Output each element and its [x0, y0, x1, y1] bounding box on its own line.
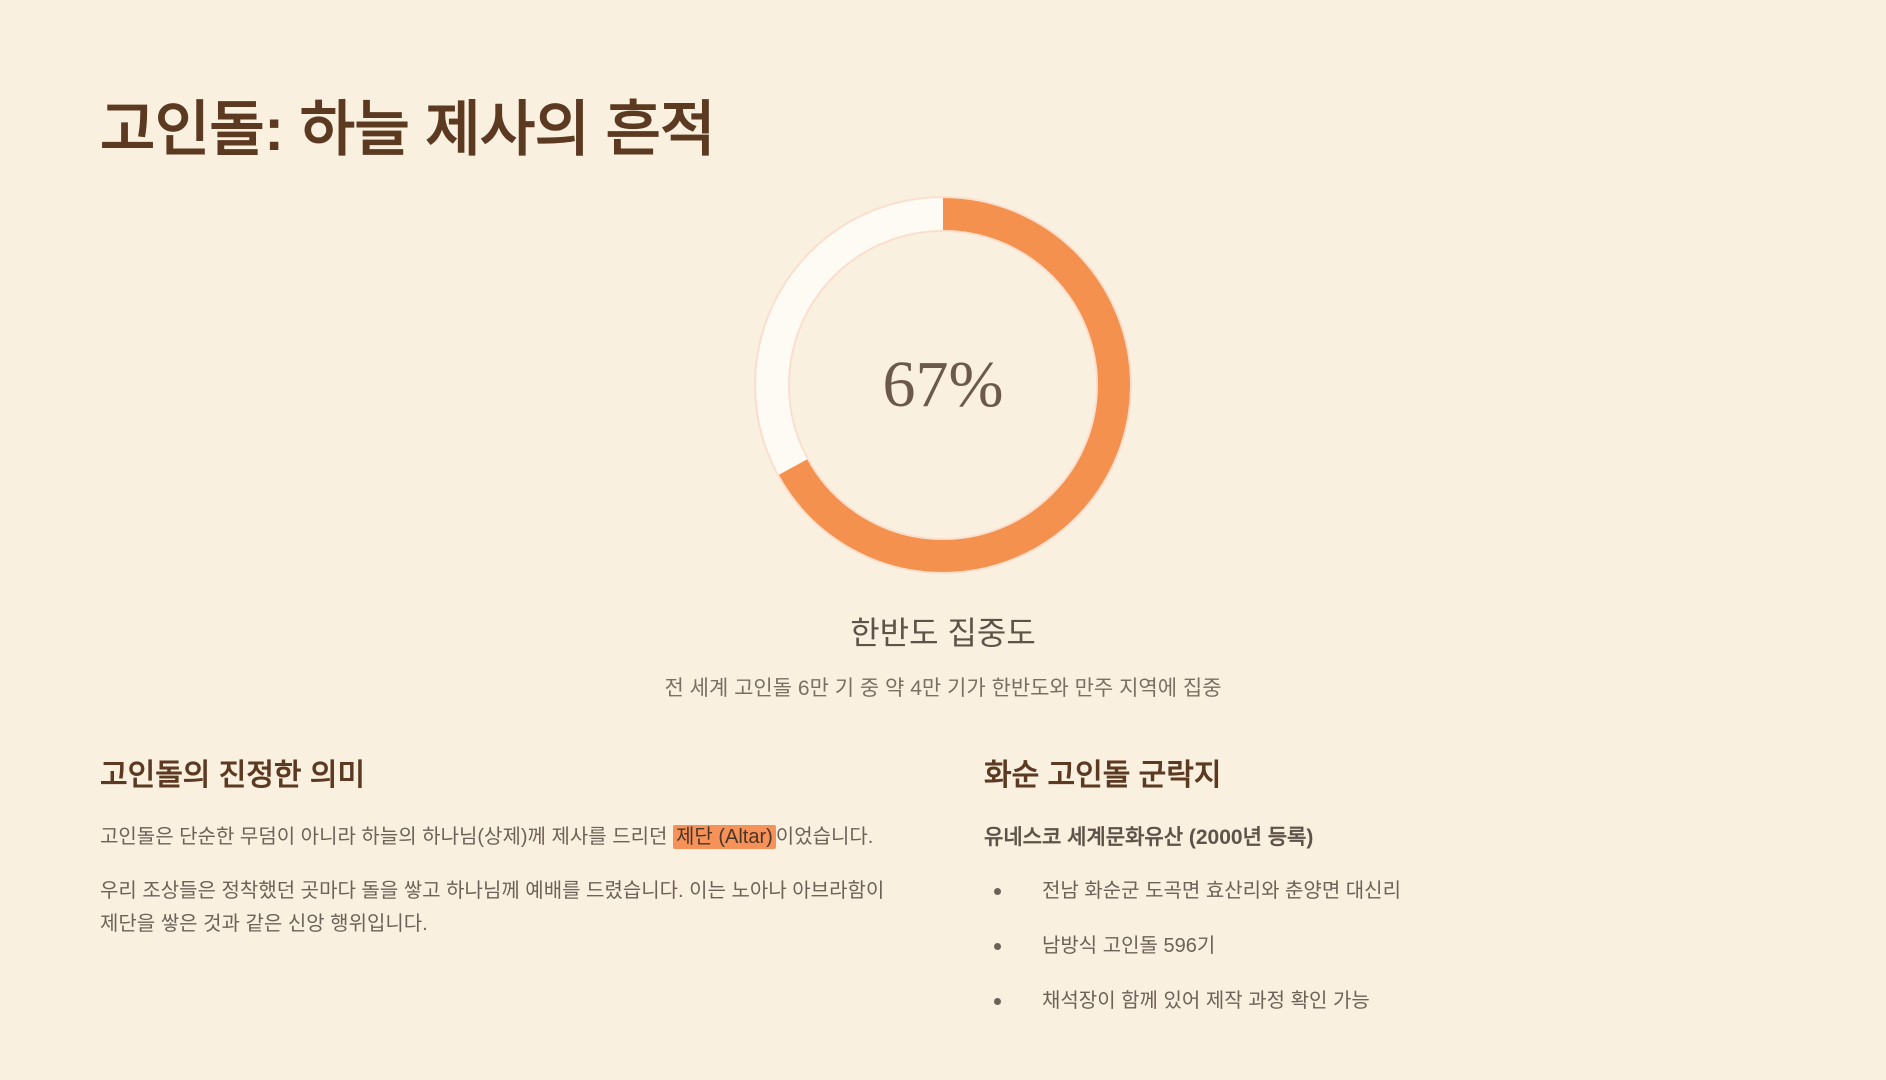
left-paragraph-2: 우리 조상들은 정착했던 곳마다 돌을 쌓고 하나님께 예배를 드렸습니다. 이… — [100, 875, 900, 940]
left-column: 고인돌의 진정한 의미 고인돌은 단순한 무덤이 아니라 하늘의 하나님(상제)… — [100, 756, 906, 1016]
donut-chart: 67% — [748, 190, 1138, 580]
chart-title: 한반도 집중도 — [850, 608, 1036, 654]
right-column: 화순 고인돌 군락지 유네스코 세계문화유산 (2000년 등록) 전남 화순군… — [984, 756, 1790, 1016]
left-paragraph-1: 고인돌은 단순한 무덤이 아니라 하늘의 하나님(상제)께 제사를 드리던 제단… — [100, 821, 900, 853]
page-title: 고인돌: 하늘 제사의 흔적 — [100, 92, 715, 167]
list-item: 채석장이 함께 있어 제작 과정 확인 가능 — [984, 987, 1790, 1016]
facts-list: 전남 화순군 도곡면 효산리와 춘양면 대신리 남방식 고인돌 596기 채석장… — [984, 877, 1790, 1016]
list-item: 남방식 고인돌 596기 — [984, 932, 1790, 961]
unesco-subheading: 유네스코 세계문화유산 (2000년 등록) — [984, 821, 1790, 851]
altar-highlight: 제단 (Altar) — [673, 825, 776, 849]
left-column-heading: 고인돌의 진정한 의미 — [100, 756, 906, 795]
slide-root: 고인돌: 하늘 제사의 흔적 67% 한반도 집중도 전 세계 고인돌 6만 기… — [0, 0, 1886, 1080]
left-paragraph-1-after: 이었습니다. — [776, 826, 874, 848]
donut-center-label: 67% — [748, 190, 1138, 580]
list-item: 전남 화순군 도곡면 효산리와 춘양면 대신리 — [984, 877, 1790, 906]
chart-subtitle: 전 세계 고인돌 6만 기 중 약 4만 기가 한반도와 만주 지역에 집중 — [664, 672, 1221, 702]
left-paragraph-1-before: 고인돌은 단순한 무덤이 아니라 하늘의 하나님(상제)께 제사를 드리던 — [100, 826, 673, 848]
right-column-heading: 화순 고인돌 군락지 — [984, 756, 1790, 795]
content-columns: 고인돌의 진정한 의미 고인돌은 단순한 무덤이 아니라 하늘의 하나님(상제)… — [100, 756, 1790, 1016]
donut-chart-block: 67% 한반도 집중도 전 세계 고인돌 6만 기 중 약 4만 기가 한반도와… — [0, 190, 1886, 702]
